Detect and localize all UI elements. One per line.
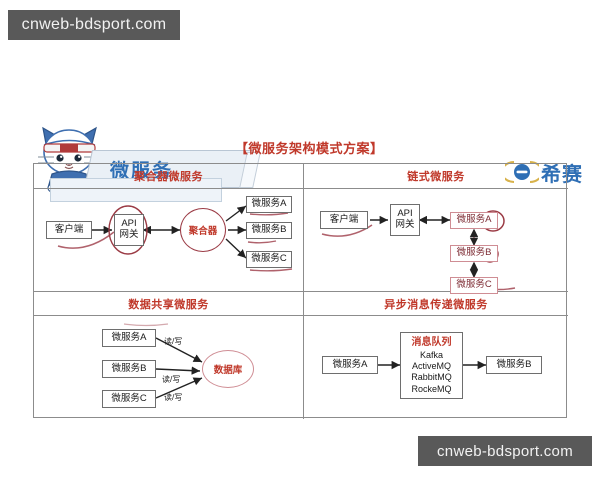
slide-header: 微服务 希赛: [0, 60, 600, 145]
quadrant-aggregator-header: 聚合器微服务: [34, 164, 303, 188]
edge-label-read-write-b: 读/写: [162, 374, 180, 385]
quadrant-shared-data: 数据共享微服务 微服务A 微服务B 微服务C 读/写 读/写 读/写 数据库: [34, 292, 303, 418]
watermark-top: cnweb-bdsport.com: [8, 10, 180, 40]
message-queue-title: 消息队列: [412, 337, 452, 349]
node-service-a[interactable]: 微服务A: [246, 196, 292, 213]
node-message-queue[interactable]: 消息队列 Kafka ActiveMQ RabbitMQ RockeMQ: [400, 332, 463, 399]
edge-label-read-write-c: 读/写: [164, 392, 182, 403]
quadrant-async-messaging: 异步消息传递微服务 微服务A 消息队列 Kafka ActiveMQ Rabbi…: [304, 292, 568, 418]
quadrant-shared-data-header: 数据共享微服务: [34, 292, 303, 316]
message-queue-item-kafka: Kafka: [420, 350, 443, 360]
node-service-c[interactable]: 微服务C: [102, 390, 156, 408]
quadrant-aggregator: 聚合器微服务: [34, 164, 303, 291]
node-api-gateway[interactable]: API 网关: [390, 204, 420, 236]
quadrant-async-messaging-body: 微服务A 消息队列 Kafka ActiveMQ RabbitMQ RockeM…: [304, 316, 568, 418]
quadrant-async-messaging-header: 异步消息传递微服务: [304, 292, 568, 316]
quadrant-shared-data-body: 微服务A 微服务B 微服务C 读/写 读/写 读/写 数据库: [34, 316, 303, 418]
chained-connectors: [304, 188, 568, 291]
node-client[interactable]: 客户端: [46, 221, 92, 239]
node-database[interactable]: 数据库: [202, 350, 254, 388]
node-api-gateway[interactable]: API 网关: [114, 214, 144, 246]
message-queue-item-rabbitmq: RabbitMQ: [411, 372, 452, 382]
page-title: 【微服务架构模式方案】: [235, 138, 384, 157]
node-service-b[interactable]: 微服务B: [486, 356, 542, 374]
quadrant-chained-body: 客户端 API 网关 微服务A 微服务B 微服务C: [304, 188, 568, 291]
quadrant-aggregator-body: 客户端 API 网关 聚合器 微服务A 微服务B 微服务C: [34, 188, 303, 291]
quadrant-chained: 链式微服务 客户端 API 网关 微服务A 微服务B 微服务C: [304, 164, 568, 291]
quadrant-chained-header: 链式微服务: [304, 164, 568, 188]
node-client[interactable]: 客户端: [320, 211, 368, 229]
node-service-b[interactable]: 微服务B: [450, 245, 498, 262]
node-aggregator[interactable]: 聚合器: [180, 208, 226, 252]
node-service-b[interactable]: 微服务B: [102, 360, 156, 378]
message-queue-item-rockemq: RockeMQ: [411, 384, 451, 394]
node-service-b[interactable]: 微服务B: [246, 222, 292, 239]
node-service-a[interactable]: 微服务A: [322, 356, 378, 374]
node-service-c[interactable]: 微服务C: [246, 251, 292, 268]
node-service-a[interactable]: 微服务A: [450, 212, 498, 229]
message-queue-item-activemq: ActiveMQ: [412, 361, 451, 371]
architecture-pattern-table: 聚合器微服务: [33, 163, 567, 418]
watermark-bottom: cnweb-bdsport.com: [418, 436, 592, 466]
node-service-a[interactable]: 微服务A: [102, 329, 156, 347]
edge-label-read-write-a: 读/写: [164, 336, 182, 347]
